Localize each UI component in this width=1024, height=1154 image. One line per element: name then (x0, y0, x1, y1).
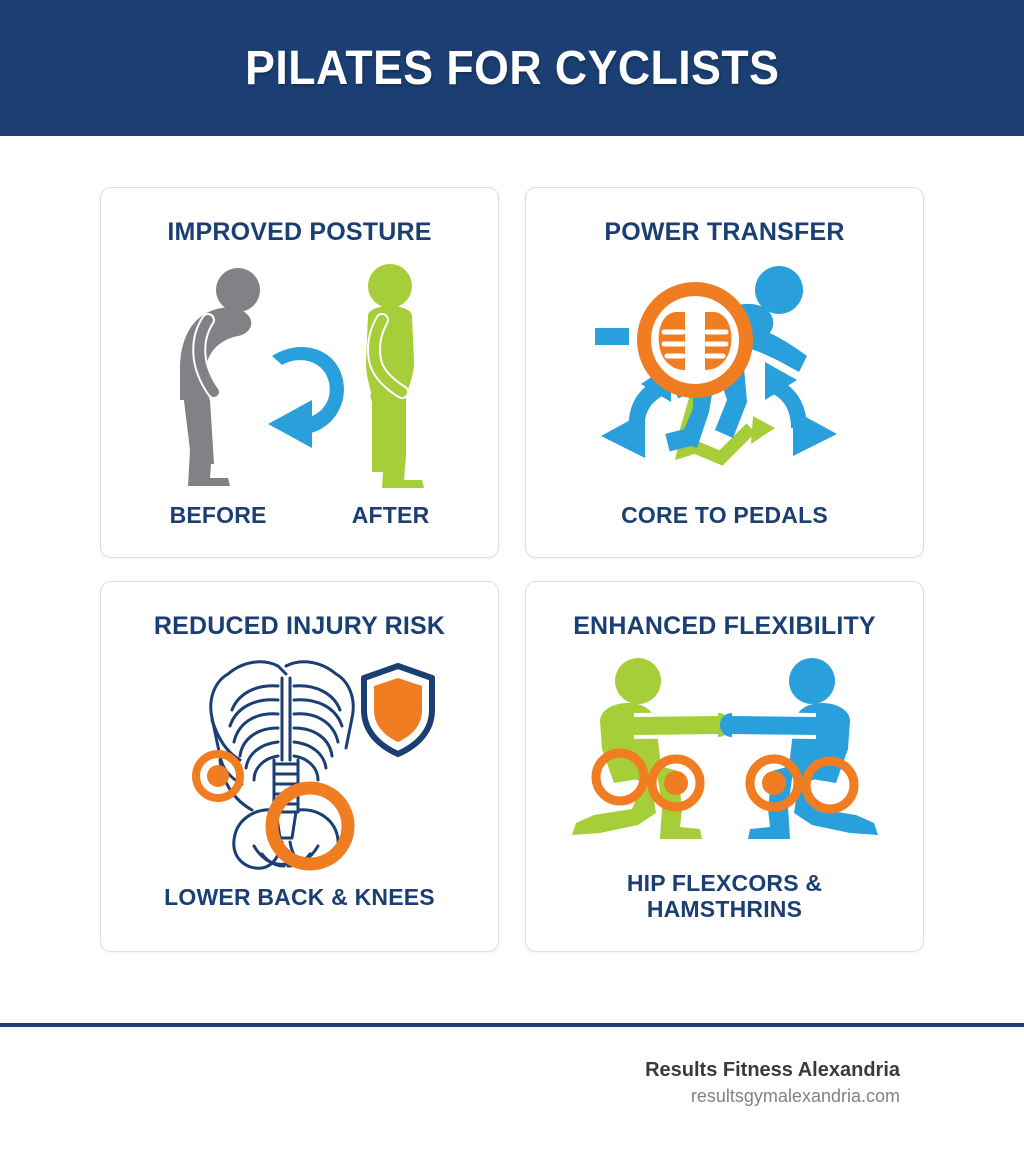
card-title-reduced-injury-risk: REDUCED INJURY RISK (154, 612, 445, 641)
caption-hamstrings: HAMSTHRINS (617, 896, 832, 923)
cyclist-core-magnifier-icon (526, 247, 923, 502)
card-title-enhanced-flexibility: ENHANCED FLEXIBILITY (573, 612, 876, 641)
card-captions-improved-posture: BEFORE AFTER (101, 502, 498, 529)
benefits-card-grid: IMPROVED POSTURE (100, 187, 924, 952)
card-title-improved-posture: IMPROVED POSTURE (167, 218, 431, 247)
page-title: PILATES FOR CYCLISTS (245, 41, 779, 96)
caption-hip-flexors: HIP FLEXCORS & (617, 870, 832, 897)
card-title-power-transfer: POWER TRANSFER (604, 218, 844, 247)
caption-core-to-pedals: CORE TO PEDALS (611, 502, 838, 529)
header-band: PILATES FOR CYCLISTS (0, 0, 1024, 136)
caption-lower-back-knees: LOWER BACK & KNEES (154, 884, 445, 911)
footer-website-url[interactable]: resultsgymalexandria.com (645, 1084, 900, 1109)
card-reduced-injury-risk[interactable]: REDUCED INJURY RISK (100, 581, 499, 952)
card-captions-enhanced-flexibility: HIP FLEXCORS & HAMSTHRINS (617, 870, 832, 923)
footer-divider (0, 1023, 1024, 1027)
skeleton-shield-icon (101, 641, 498, 884)
footer-brand-name: Results Fitness Alexandria (645, 1056, 900, 1084)
posture-before-after-icon (101, 247, 498, 502)
card-power-transfer[interactable]: POWER TRANSFER (525, 187, 924, 558)
footer: Results Fitness Alexandria resultsgymale… (645, 1056, 900, 1109)
card-improved-posture[interactable]: IMPROVED POSTURE (100, 187, 499, 558)
lunge-stretch-figures-icon (526, 641, 923, 870)
card-enhanced-flexibility[interactable]: ENHANCED FLEXIBILITY (525, 581, 924, 952)
caption-before: BEFORE (170, 502, 267, 529)
caption-after: AFTER (352, 502, 430, 529)
